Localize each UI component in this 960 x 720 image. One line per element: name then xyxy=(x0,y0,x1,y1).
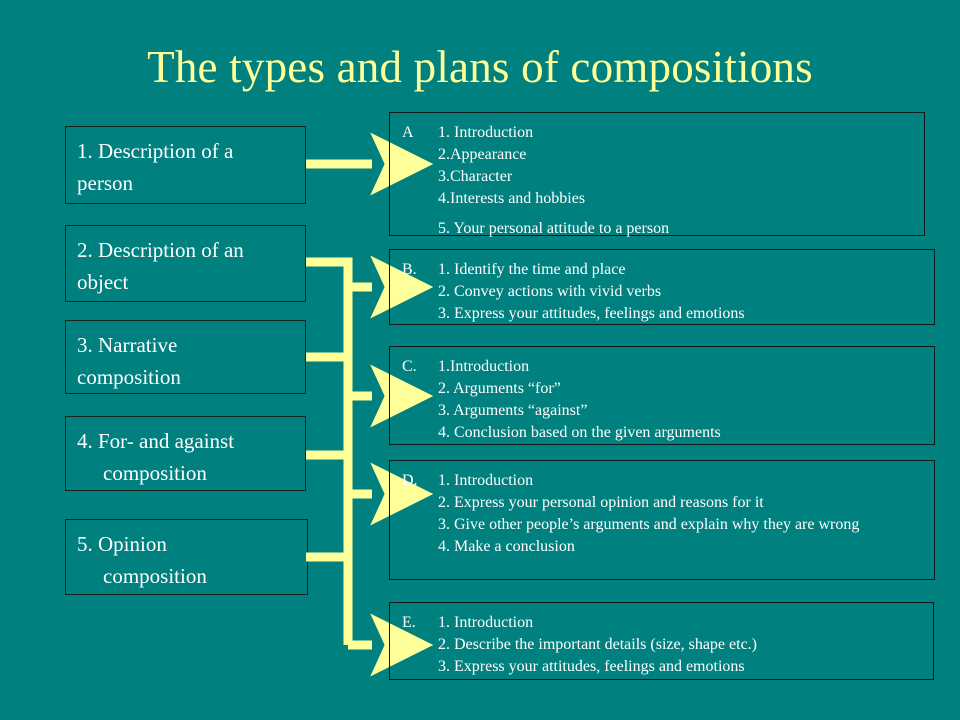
plan-step: 1.Introduction xyxy=(438,356,928,378)
plan-step: 1. Introduction xyxy=(438,122,918,144)
plan-panel-e[interactable]: E. 1. Introduction 2. Describe the impor… xyxy=(389,602,934,680)
plan-panel-d[interactable]: D. 1. Introduction 2. Express your perso… xyxy=(389,460,935,580)
slide-canvas: The types and plans of compositions 1. D… xyxy=(0,0,960,720)
plan-step: 2. Describe the important details (size,… xyxy=(438,634,927,656)
plan-steps: 1.Introduction 2. Arguments “for” 3. Arg… xyxy=(438,356,928,435)
plan-panel-a[interactable]: A 1. Introduction 2.Appearance 3.Charact… xyxy=(389,112,925,236)
type-box-line1: 4. For- and against xyxy=(77,429,234,453)
page-title: The types and plans of compositions xyxy=(0,40,960,94)
plan-step: 4. Conclusion based on the given argumen… xyxy=(438,422,928,444)
plan-letter: E. xyxy=(402,612,438,670)
type-box-narrative-composition[interactable]: 3. Narrative composition xyxy=(65,320,306,394)
plan-letter: D. xyxy=(402,470,438,570)
plan-step: 4.Interests and hobbies xyxy=(438,188,918,210)
plan-steps: 1. Introduction 2.Appearance 3.Character… xyxy=(438,122,918,226)
plan-step: 3. Arguments “against” xyxy=(438,400,928,422)
plan-step: 1. Identify the time and place xyxy=(438,259,928,281)
type-box-line2: composition xyxy=(77,457,305,489)
plan-steps: 1. Introduction 2. Express your personal… xyxy=(438,470,928,570)
plan-panel-c[interactable]: C. 1.Introduction 2. Arguments “for” 3. … xyxy=(389,346,935,445)
plan-step: 3. Express your attitudes, feelings and … xyxy=(438,656,927,678)
plan-letter: A xyxy=(402,122,438,226)
plan-step: 3. Express your attitudes, feelings and … xyxy=(438,303,928,325)
plan-steps: 1. Introduction 2. Describe the importan… xyxy=(438,612,927,670)
plan-step: 4. Make a conclusion xyxy=(438,536,928,558)
plan-steps: 1. Identify the time and place 2. Convey… xyxy=(438,259,928,315)
plan-step: 3.Character xyxy=(438,166,918,188)
connector-trunk xyxy=(306,262,348,645)
type-box-description-of-an-object[interactable]: 2. Description of an object xyxy=(65,225,306,302)
type-box-opinion-composition[interactable]: 5. Opinion composition xyxy=(65,519,308,595)
type-box-description-of-a-person[interactable]: 1. Description of a person xyxy=(65,126,306,204)
type-box-line1: 2. Description of an xyxy=(77,238,244,262)
type-box-line2: composition xyxy=(77,361,305,393)
plan-step: 2. Express your personal opinion and rea… xyxy=(438,492,928,514)
type-box-line1: 3. Narrative xyxy=(77,333,177,357)
plan-letter: C. xyxy=(402,356,438,435)
type-box-line2: person xyxy=(77,167,305,199)
type-box-line2: composition xyxy=(77,560,307,592)
plan-step: 2.Appearance xyxy=(438,144,918,166)
plan-step: 1. Introduction xyxy=(438,470,928,492)
plan-step: 1. Introduction xyxy=(438,612,927,634)
plan-step: 2. Arguments “for” xyxy=(438,378,928,400)
plan-panel-b[interactable]: B. 1. Identify the time and place 2. Con… xyxy=(389,249,935,325)
type-box-line2: object xyxy=(77,266,305,298)
type-box-line1: 1. Description of a xyxy=(77,139,233,163)
plan-letter: B. xyxy=(402,259,438,315)
plan-step: 5. Your personal attitude to a person xyxy=(438,218,918,240)
type-box-line1: 5. Opinion xyxy=(77,532,167,556)
type-box-for-and-against-composition[interactable]: 4. For- and against composition xyxy=(65,416,306,491)
plan-step: 3. Give other people’s arguments and exp… xyxy=(438,514,928,536)
plan-step: 2. Convey actions with vivid verbs xyxy=(438,281,928,303)
